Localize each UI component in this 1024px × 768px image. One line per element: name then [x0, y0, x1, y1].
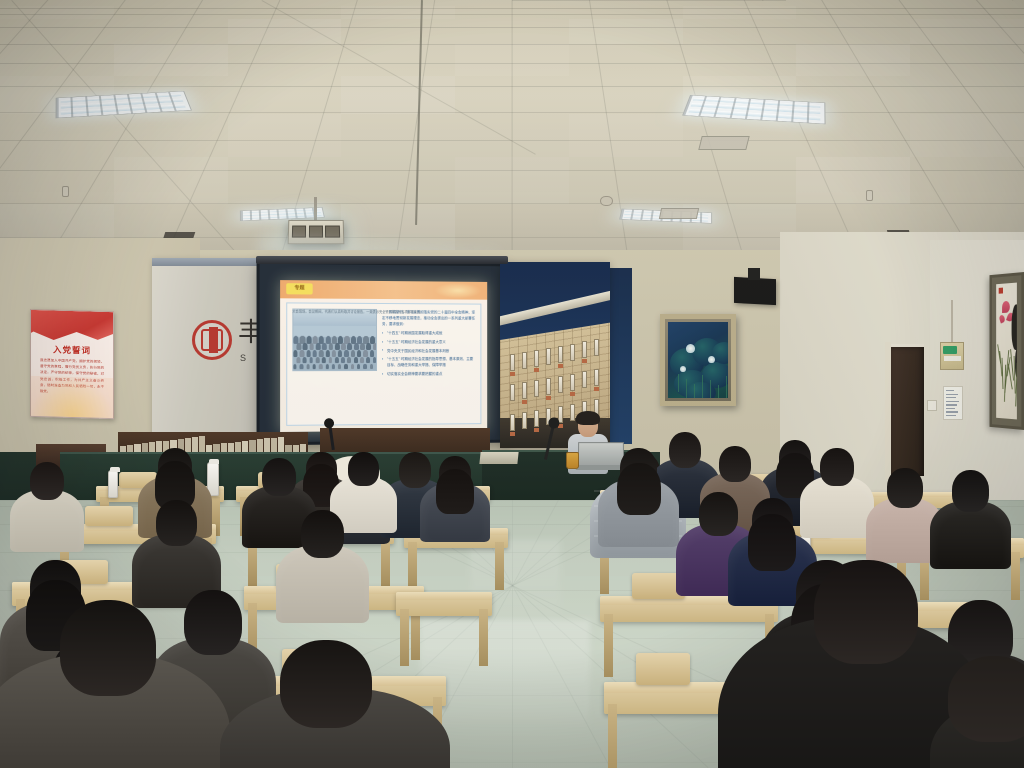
slide-crowd-figure — [344, 364, 347, 369]
light-louvre — [241, 211, 243, 221]
slide-crowd-figure — [296, 357, 300, 363]
slide-bullet: "十四五" 时期我国发展取得重大成就 — [382, 330, 476, 336]
ceiling-tile — [341, 76, 455, 114]
mural-brick-accent — [510, 432, 515, 436]
mural-brick-accent — [546, 396, 551, 400]
audience-head — [719, 446, 751, 482]
slide-crowd-figure — [328, 357, 332, 363]
notice-text-line — [946, 408, 955, 409]
tea-glass — [566, 452, 579, 469]
presentation-slide: 专题 大会现场。会议期间，代表们认真听取并讨论报告，一致表示完全赞同报告的各项部… — [280, 280, 487, 432]
painting-lotus-bloom — [680, 366, 686, 372]
audience-member — [276, 510, 369, 635]
slide-crowd-figure — [325, 350, 329, 357]
slide-crowd-figure — [373, 343, 377, 350]
slide-crowd-figure — [347, 357, 351, 363]
mural-edge-panel — [610, 268, 632, 444]
foreground-attendee-left — [0, 600, 230, 768]
desk-leg — [495, 542, 504, 590]
slide-swirl-decoration — [434, 282, 481, 298]
slide-crowd-figure — [293, 364, 296, 369]
desk-leg — [608, 704, 617, 768]
mural-window — [546, 378, 551, 395]
mural-window — [534, 410, 539, 427]
attendee-head — [280, 640, 372, 728]
slide-crowd-figure — [300, 350, 304, 357]
slide-photo-crowd — [292, 309, 377, 372]
ceiling-tile — [569, 19, 683, 44]
slide-bullet: "十五五" 时期经济社会发展的指导思想、基本原则、主要目标、战略任务和重大举措、… — [382, 356, 476, 368]
notice-text-line — [946, 415, 956, 416]
party-oath-poster: 入党誓词 我志愿加入中国共产党，拥护党的纲领，遵守党的章程，履行党员义务，执行党… — [30, 309, 114, 419]
light-panel-front-left — [56, 91, 192, 118]
slide-crowd-figure — [300, 364, 303, 369]
mural-window — [558, 376, 563, 393]
desk-back-panel — [636, 653, 690, 685]
slide-crowd-figure — [363, 350, 367, 357]
projector-mount-rod — [314, 197, 317, 221]
notice-text-line — [946, 397, 956, 398]
audience-long-hair — [617, 463, 661, 515]
ceiling-tile — [910, 114, 1024, 157]
red-seal-icon — [192, 320, 232, 360]
mural-brick-accent — [594, 387, 599, 391]
sprinkler-head — [62, 186, 69, 197]
slide-text-block: 即将举行，学习并贯彻落实党的二十届四中全会精神，坚定不移地贯彻新发展理念，推动全… — [382, 309, 476, 419]
notice-text-line — [946, 419, 959, 420]
foreground-attendee-left-2 — [220, 640, 450, 768]
notice-text-line — [946, 404, 957, 405]
ceiling-grid-line — [0, 0, 36, 272]
light-louvre — [807, 102, 810, 123]
painting-canvas — [668, 322, 728, 398]
slide-bullet: 切实落实全会精神要求要把握的重点 — [382, 371, 476, 377]
audience-head — [262, 458, 296, 496]
audience-long-hair — [436, 469, 474, 514]
chinese-scroll-painting — [989, 272, 1024, 430]
painting-lotus-leaf — [684, 382, 716, 398]
mural-brick-accent — [534, 428, 539, 432]
slide-crowd-figure — [363, 364, 366, 369]
slide-crowd-figure — [357, 364, 360, 369]
wall-notice-sheet — [943, 386, 963, 420]
scroll-flower — [1002, 301, 1010, 313]
slide-body: 大会现场。会议期间，代表们认真听取并讨论报告，一致表示完全赞同报告的各项部署安排… — [286, 302, 481, 425]
ceiling-grid-line — [16, 0, 513, 272]
mural-window — [594, 339, 599, 356]
scroll-flower — [999, 314, 1006, 323]
sprinkler-head — [866, 190, 873, 201]
mural-window — [546, 348, 551, 365]
mural-brick-accent — [582, 359, 587, 363]
framed-lotus-painting — [660, 314, 736, 406]
light-louvre — [700, 213, 702, 223]
ceiling-grid-line — [511, 0, 636, 272]
first-aid-label — [943, 346, 957, 354]
ceiling-tile — [228, 19, 342, 44]
scroll-grass-stem — [1002, 358, 1004, 389]
slide-crowd-figure — [370, 350, 374, 357]
slide-photo-block: 大会现场。会议期间，代表们认真听取并讨论报告，一致表示完全赞同报告的各项部署安排… — [292, 309, 377, 420]
slide-crowd-figure — [319, 350, 323, 357]
attendee-head — [814, 560, 918, 664]
mural-window — [510, 354, 515, 371]
painting-lotus-bloom — [686, 344, 695, 353]
slide-crowd-figure — [303, 357, 307, 363]
slide-crowd-figure — [373, 357, 377, 363]
slide-crowd-figure — [344, 350, 348, 357]
audience-member — [598, 448, 679, 558]
slide-crowd-figure — [338, 364, 341, 369]
mural-roofline — [500, 289, 610, 327]
poster-glow — [31, 376, 113, 419]
audience-head — [156, 500, 197, 546]
mural-window — [582, 341, 587, 358]
lecture-hall-photo: 入党誓词 我志愿加入中国共产党，拥护党的纲领，遵守党的章程，履行党员义务，执行党… — [0, 0, 1024, 768]
painting-lotus-bloom — [708, 356, 715, 363]
audience-member — [10, 462, 84, 562]
desk-top — [396, 592, 492, 600]
scroll-seal-icon — [999, 288, 1003, 294]
slide-crowd-figure — [313, 350, 317, 357]
mural-window — [534, 380, 539, 397]
mural-brick-accent — [510, 372, 515, 376]
slide-photo-caption: 大会现场。会议期间，代表们认真听取并讨论报告，一致表示完全赞同报告的各项部署安排… — [292, 309, 423, 316]
projector-lens-row — [292, 226, 340, 238]
ceiling-grid-line — [0, 0, 512, 272]
ceiling-tile — [796, 157, 910, 204]
slide-crowd-figure — [341, 357, 345, 363]
slide-crowd-figure — [332, 364, 335, 369]
presenter-hair — [576, 411, 600, 425]
slide-crowd-figure — [319, 364, 322, 369]
audience-member — [420, 456, 490, 551]
mural-window — [522, 412, 527, 429]
screen-roller-bar — [256, 256, 508, 264]
slide-crowd-figure — [293, 350, 297, 357]
foreground-attendee-right-2 — [930, 656, 1024, 768]
poster-title: 入党誓词 — [31, 343, 113, 357]
slide-crowd-figure — [306, 364, 309, 369]
painting-lotus-stem — [686, 379, 687, 398]
light-louvre — [57, 98, 59, 118]
notice-text-line — [946, 401, 959, 402]
painting-lotus-stem — [694, 384, 695, 398]
ceiling-grid-line — [0, 0, 512, 272]
desk — [396, 592, 492, 616]
painting-lotus-stem — [678, 374, 679, 392]
slide-bullet: 党中央关于国民经济和社会发展基本判断 — [382, 348, 476, 354]
slide-crowd-figure — [351, 364, 354, 369]
slide-crowd-figure — [357, 350, 361, 357]
ceiling-vent — [698, 136, 749, 150]
desk-leg — [1011, 552, 1020, 600]
slide-crowd-figure — [325, 364, 328, 369]
ceiling-grid-line — [1012, 0, 1024, 1]
attendee-head — [948, 656, 1024, 742]
ceiling-grid-line — [0, 0, 512, 272]
wall-mounted-first-aid-box[interactable] — [940, 342, 964, 370]
mural-window — [558, 346, 563, 363]
notice-text-line — [946, 411, 958, 412]
light-panel-front-right — [682, 95, 826, 124]
ceiling-grid-line — [262, 0, 536, 155]
mural-window — [510, 414, 515, 431]
box-front-panel — [944, 356, 961, 361]
mural-brick-accent — [558, 364, 563, 368]
slide-crowd-figure — [366, 357, 370, 363]
audience-head — [820, 448, 854, 486]
entry-door[interactable] — [888, 344, 924, 476]
scroll-paper — [996, 283, 1017, 420]
ceiling-grid-line — [11, 0, 286, 272]
light-panel-mid-left — [240, 207, 325, 221]
audience-head — [952, 470, 989, 512]
desk-leg — [408, 542, 417, 590]
slide-crowd-figure — [322, 357, 326, 363]
slide-crowd-figure — [306, 350, 310, 357]
light-louvre — [250, 211, 252, 221]
mural-window — [534, 350, 539, 367]
ceiling-tile — [569, 114, 683, 157]
painting-lotus-stem — [726, 376, 727, 398]
slide-crowd-figure — [313, 364, 316, 369]
wall-box-rod — [951, 300, 953, 344]
light-switch[interactable] — [927, 400, 937, 411]
scroll-dark-leaf — [1012, 304, 1017, 350]
ceiling-grid-line — [511, 0, 512, 272]
slide-crowd-figure — [354, 357, 358, 363]
ceiling-grid-line — [0, 0, 512, 272]
ceiling-grid-line — [762, 0, 1024, 1]
slide-crowd-figure — [351, 350, 355, 357]
slide-crowd-figure — [332, 350, 336, 357]
mural-brick-accent — [522, 400, 527, 404]
audience-head — [887, 468, 923, 508]
mural-window — [510, 384, 515, 401]
slide-crowd-figure — [316, 357, 320, 363]
slide-header-band: 专题 — [280, 280, 487, 300]
mural-window — [594, 369, 599, 386]
mural-window — [570, 374, 575, 391]
desk-leg — [479, 609, 488, 667]
ceiling-tile — [114, 44, 228, 76]
painting-lotus-stem — [710, 380, 711, 398]
speaker-bracket — [748, 268, 760, 280]
audience-head — [348, 452, 379, 486]
vacuum-thermos-flask — [108, 470, 118, 498]
ceiling-tile — [228, 114, 342, 157]
notice-text-line — [946, 394, 958, 395]
slide-badge: 专题 — [286, 283, 312, 294]
ceiling-tile — [796, 44, 910, 76]
slide-crowd-figure — [360, 357, 364, 363]
banner-subtitle: S — [240, 353, 247, 363]
projection-screen: 专题 大会现场。会议期间，代表们认真听取并讨论报告，一致表示完全赞同报告的各项部… — [257, 261, 504, 446]
slide-bullet: "十五五" 时期经济社会发展的重大意义 — [382, 339, 476, 345]
audience-head — [301, 510, 344, 558]
audience-head — [30, 462, 64, 500]
mural-window — [582, 371, 587, 388]
wall-mounted-speaker — [734, 277, 776, 305]
attendee-head — [60, 600, 156, 696]
slide-crowd-figure — [370, 364, 373, 369]
slide-crowd-figure — [338, 350, 342, 357]
mural-brick-accent — [570, 392, 575, 396]
ceiling-grid-line — [388, 0, 513, 272]
mural-window — [570, 344, 575, 361]
ceiling-vent — [659, 208, 699, 219]
desk-leg — [604, 614, 613, 676]
slide-crowd-figure — [335, 357, 339, 363]
ceiling-tile — [910, 19, 1024, 44]
slide-crowd-figure — [309, 357, 313, 363]
door-jamb — [885, 342, 891, 480]
mural-window — [522, 352, 527, 369]
mural-window — [522, 382, 527, 399]
mural-brick-accent — [534, 368, 539, 372]
desk-back-panel — [85, 506, 133, 526]
painting-lotus-stem — [702, 375, 703, 398]
painting-lotus-stem — [718, 385, 719, 398]
notice-text-line — [946, 390, 954, 391]
smoke-detector — [600, 196, 613, 206]
